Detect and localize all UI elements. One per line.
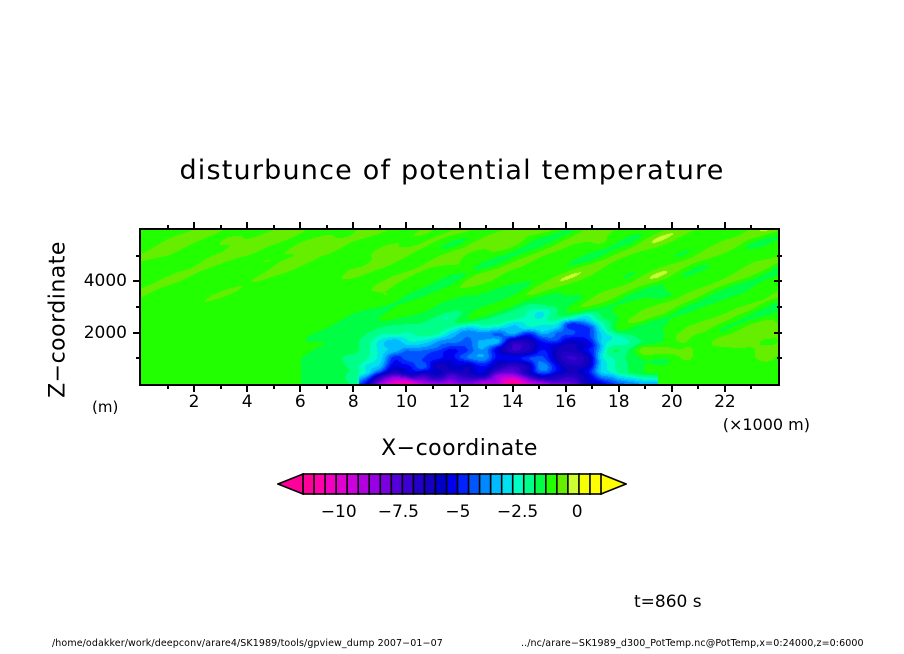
colorbar-cell bbox=[524, 474, 535, 494]
x-tick-major bbox=[618, 384, 620, 392]
x-tick-label: 20 bbox=[661, 392, 683, 412]
x-tick-major-top bbox=[724, 222, 726, 230]
colorbar-cell bbox=[402, 474, 413, 494]
colorbar-cell bbox=[557, 474, 568, 494]
x-tick-label: 22 bbox=[714, 392, 736, 412]
colorbar-cell bbox=[491, 474, 502, 494]
colorbar-cell bbox=[458, 474, 469, 494]
x-tick-label: 12 bbox=[449, 392, 471, 412]
colorbar-over-arrow bbox=[601, 474, 626, 494]
y-axis-label: Z−coordinate bbox=[46, 220, 71, 420]
colorbar-tick-label: −7.5 bbox=[378, 502, 419, 522]
y-tick-minor-right bbox=[777, 357, 782, 359]
contour-plot-area[interactable] bbox=[139, 228, 780, 386]
x-tick-major-top bbox=[246, 222, 248, 230]
colorbar-tick-label: −10 bbox=[321, 502, 357, 522]
x-tick-major bbox=[405, 384, 407, 392]
x-tick-label: 10 bbox=[396, 392, 418, 412]
y-tick-minor-right bbox=[777, 255, 782, 257]
x-tick-minor bbox=[326, 384, 328, 389]
x-tick-minor-top bbox=[485, 225, 487, 230]
footer-command-path: /home/odakker/work/deepconv/arare4/SK198… bbox=[52, 638, 443, 649]
x-tick-minor bbox=[220, 384, 222, 389]
x-tick-major bbox=[246, 384, 248, 392]
colorbar-tick-label: 0 bbox=[572, 502, 583, 522]
x-tick-major-top bbox=[565, 222, 567, 230]
colorbar-swatches bbox=[277, 471, 627, 497]
colorbar-tick-label: −2.5 bbox=[497, 502, 538, 522]
x-tick-minor bbox=[750, 384, 752, 389]
x-tick-minor-top bbox=[273, 225, 275, 230]
colorbar-cell bbox=[314, 474, 325, 494]
y-tick-major-right bbox=[774, 332, 782, 334]
colorbar-cell bbox=[391, 474, 402, 494]
colorbar-cell bbox=[469, 474, 480, 494]
x-tick-minor-top bbox=[432, 225, 434, 230]
time-annotation: t=860 s bbox=[634, 592, 702, 612]
x-tick-minor-top bbox=[697, 225, 699, 230]
x-tick-major-top bbox=[193, 222, 195, 230]
x-tick-minor-top bbox=[591, 225, 593, 230]
y-tick-minor-right bbox=[777, 306, 782, 308]
x-tick-label: 8 bbox=[348, 392, 359, 412]
x-tick-label: 18 bbox=[608, 392, 630, 412]
x-tick-major-top bbox=[352, 222, 354, 230]
y-tick-minor bbox=[136, 255, 141, 257]
x-tick-minor-top bbox=[644, 225, 646, 230]
x-tick-minor-top bbox=[326, 225, 328, 230]
x-tick-major-top bbox=[618, 222, 620, 230]
x-tick-major-top bbox=[459, 222, 461, 230]
x-tick-label: 16 bbox=[555, 392, 577, 412]
x-tick-minor-top bbox=[538, 225, 540, 230]
x-tick-minor bbox=[379, 384, 381, 389]
colorbar-cell bbox=[535, 474, 546, 494]
x-tick-minor-top bbox=[167, 225, 169, 230]
y-tick-major bbox=[133, 332, 141, 334]
x-tick-minor-top bbox=[379, 225, 381, 230]
x-tick-major bbox=[512, 384, 514, 392]
x-tick-minor bbox=[485, 384, 487, 389]
x-tick-minor bbox=[167, 384, 169, 389]
colorbar-cell bbox=[424, 474, 435, 494]
x-tick-major-top bbox=[299, 222, 301, 230]
x-tick-minor bbox=[697, 384, 699, 389]
y-tick-minor bbox=[136, 357, 141, 359]
x-tick-major bbox=[459, 384, 461, 392]
colorbar-cell bbox=[336, 474, 347, 494]
colorbar-under-arrow bbox=[278, 474, 303, 494]
colorbar-cell bbox=[513, 474, 524, 494]
x-tick-major bbox=[193, 384, 195, 392]
x-tick-label: 4 bbox=[242, 392, 253, 412]
x-axis-label: X−coordinate bbox=[139, 436, 780, 461]
x-tick-major bbox=[565, 384, 567, 392]
y-tick-minor bbox=[136, 306, 141, 308]
colorbar-cell bbox=[435, 474, 446, 494]
x-tick-major bbox=[724, 384, 726, 392]
x-tick-minor bbox=[644, 384, 646, 389]
page-title: disturbunce of potential temperature bbox=[0, 155, 904, 186]
colorbar-cell bbox=[579, 474, 590, 494]
colorbar-cell bbox=[480, 474, 491, 494]
x-tick-minor bbox=[432, 384, 434, 389]
temperature-field-canvas bbox=[141, 230, 778, 384]
x-tick-label: 2 bbox=[189, 392, 200, 412]
x-tick-major-top bbox=[512, 222, 514, 230]
x-tick-major bbox=[671, 384, 673, 392]
colorbar-cell bbox=[358, 474, 369, 494]
y-tick-major-right bbox=[774, 280, 782, 282]
x-tick-label: 6 bbox=[295, 392, 306, 412]
x-tick-major bbox=[299, 384, 301, 392]
colorbar-cell bbox=[568, 474, 579, 494]
x-tick-major bbox=[352, 384, 354, 392]
colorbar-cell bbox=[325, 474, 336, 494]
x-tick-major-top bbox=[671, 222, 673, 230]
colorbar-cell bbox=[546, 474, 557, 494]
x-tick-major-top bbox=[405, 222, 407, 230]
colorbar[interactable] bbox=[277, 471, 627, 497]
colorbar-cell bbox=[347, 474, 358, 494]
x-tick-minor bbox=[273, 384, 275, 389]
x-axis-unit: (×1000 m) bbox=[723, 415, 810, 434]
colorbar-tick-label: −5 bbox=[445, 502, 470, 522]
y-axis-unit: (m) bbox=[92, 398, 118, 416]
colorbar-cell bbox=[303, 474, 314, 494]
colorbar-cell bbox=[446, 474, 457, 494]
colorbar-cell bbox=[590, 474, 601, 494]
colorbar-cell bbox=[502, 474, 513, 494]
x-tick-minor-top bbox=[220, 225, 222, 230]
colorbar-cell bbox=[369, 474, 380, 494]
colorbar-cell bbox=[380, 474, 391, 494]
x-tick-minor bbox=[538, 384, 540, 389]
y-tick-major bbox=[133, 280, 141, 282]
x-tick-minor bbox=[591, 384, 593, 389]
colorbar-cell bbox=[413, 474, 424, 494]
x-tick-label: 14 bbox=[502, 392, 524, 412]
footer-data-source: ../nc/arare−SK1989_d300_PotTemp.nc@PotTe… bbox=[521, 638, 864, 649]
x-tick-minor-top bbox=[750, 225, 752, 230]
